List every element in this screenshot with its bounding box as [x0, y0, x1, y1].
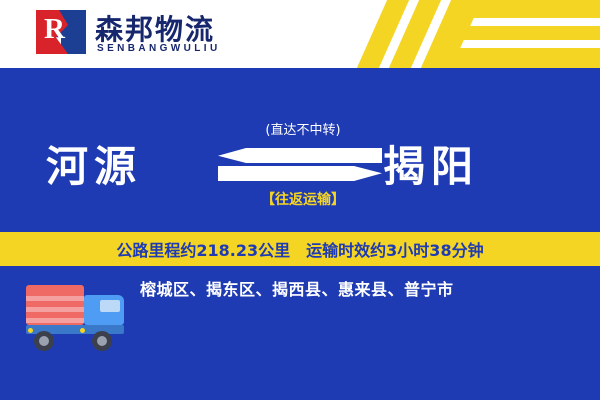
truck-cargo	[26, 285, 84, 325]
truck-wheel-hub	[39, 336, 49, 346]
logistics-route-poster: R 森邦物流 SENBANGWULIU 河源 揭阳 (直达不中转) 【往返运输】…	[0, 0, 600, 400]
distance-label: 公路里程约218.23公里	[116, 237, 290, 261]
arrow-left-icon	[218, 148, 382, 163]
truck-wheel	[92, 331, 112, 351]
truck-wheel	[34, 331, 54, 351]
duration-label: 运输时效约3小时38分钟	[306, 237, 483, 261]
truck-cargo-stripe	[26, 318, 84, 323]
header-bar: R 森邦物流 SENBANGWULIU	[0, 0, 600, 68]
truck-light	[80, 328, 85, 333]
brand-name-cn: 森邦物流	[95, 8, 215, 48]
logo-letter: R	[44, 13, 64, 46]
bidirectional-arrows-icon	[218, 148, 382, 182]
arrow-right-icon	[218, 166, 382, 181]
brand-name-en: SENBANGWULIU	[97, 43, 221, 54]
brand-logo-icon: R	[36, 10, 86, 54]
truck-light	[28, 328, 33, 333]
coverage-areas: 榕城区、揭东区、揭西县、惠来县、普宁市	[140, 276, 560, 300]
truck-window	[100, 300, 120, 312]
truck-icon	[26, 281, 134, 357]
origin-city: 河源	[46, 133, 142, 194]
direct-service-note: (直达不中转)	[248, 119, 358, 138]
header-stripe-3	[421, 0, 600, 68]
truck-cargo-stripe	[26, 307, 84, 312]
header-stripe-gap-2	[460, 40, 600, 48]
truck-wheel-hub	[97, 336, 107, 346]
truck-cargo-stripe	[26, 296, 84, 301]
route-info-bar: 公路里程约218.23公里 运输时效约3小时38分钟	[0, 232, 600, 266]
info-separator	[290, 237, 306, 261]
header-stripe-gap-1	[470, 18, 600, 26]
roundtrip-note: 【往返运输】	[243, 189, 363, 209]
destination-city: 揭阳	[383, 133, 479, 194]
